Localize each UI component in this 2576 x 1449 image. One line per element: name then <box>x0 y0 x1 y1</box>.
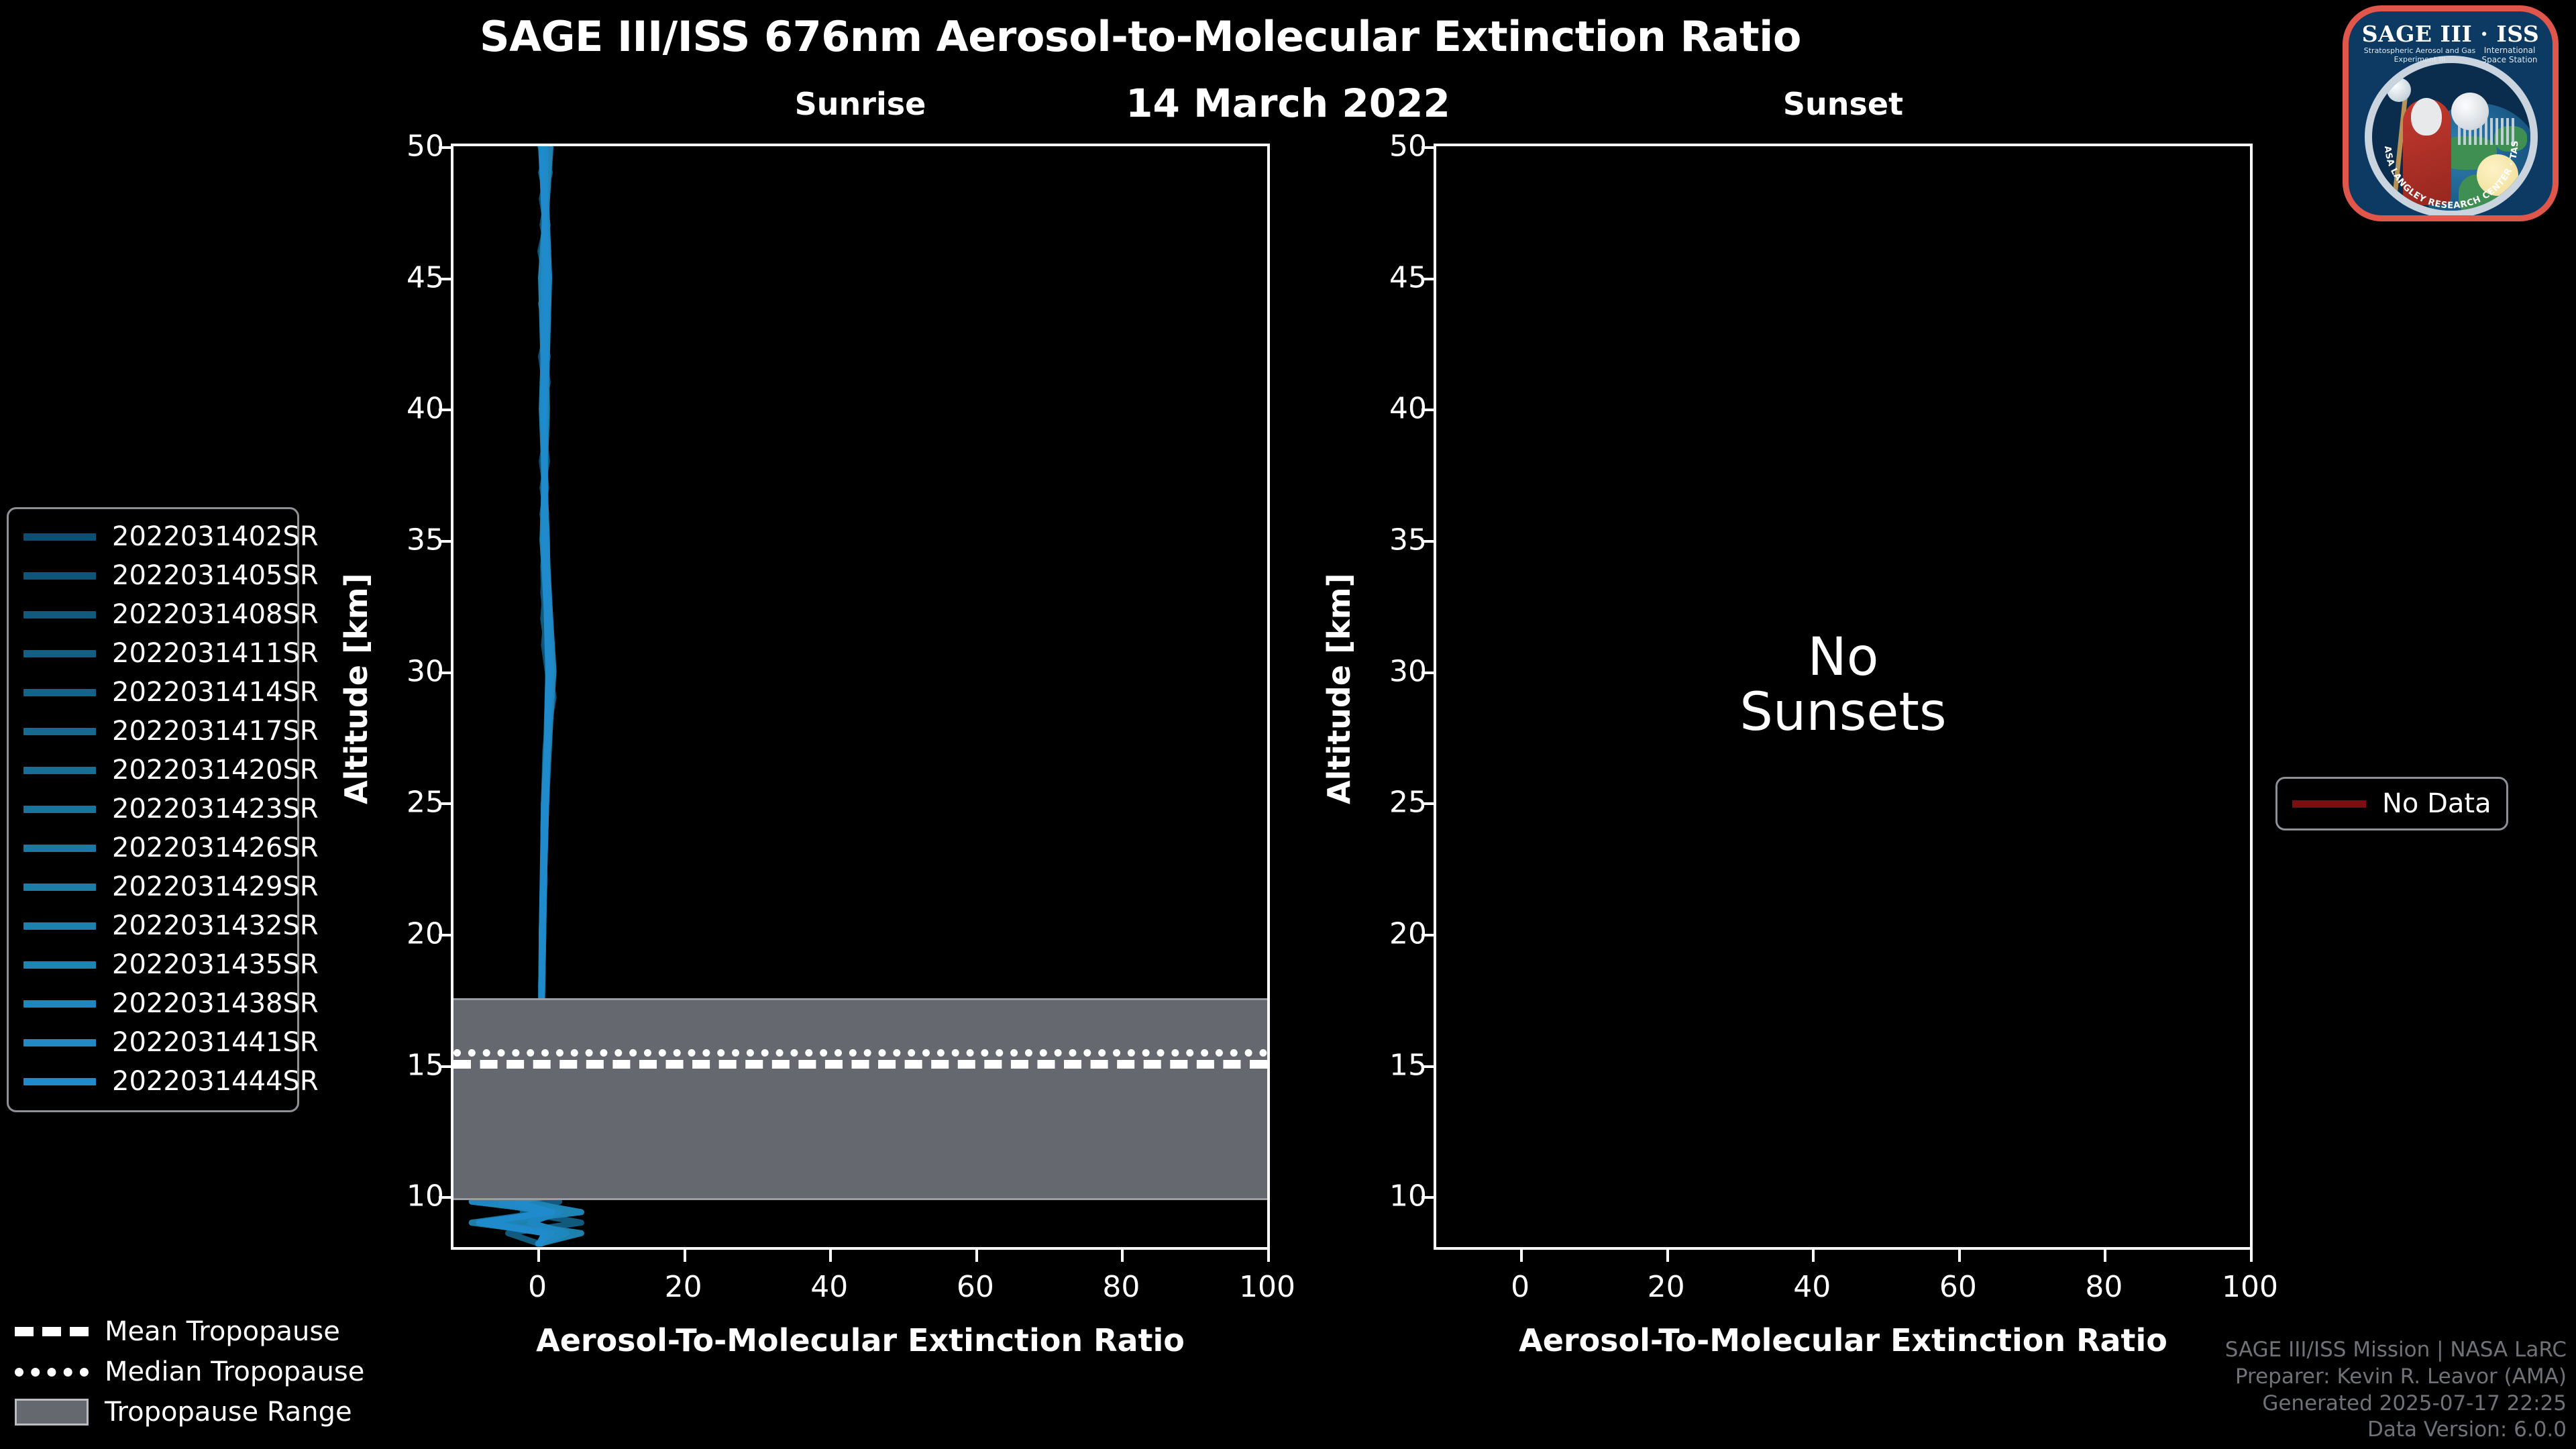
credit-data-version: Data Version: 6.0.0 <box>2225 1417 2567 1444</box>
tropopause-range-label: Tropopause Range <box>105 1397 352 1428</box>
legend-item-label: 2022031426SR <box>112 833 319 863</box>
x-axis-tick-label: 20 <box>1648 1270 1685 1304</box>
logo-subtitle-left: Stratospheric Aerosol and Gas Experiment… <box>2353 46 2487 64</box>
y-axis-tick-label: 30 <box>407 654 444 688</box>
credit-preparer: Preparer: Kevin R. Leavor (AMA) <box>2225 1364 2567 1391</box>
sunrise-plot-area <box>453 146 1267 1247</box>
no-data-line-icon <box>2292 800 2366 808</box>
legend-item-label: 2022031429SR <box>112 871 319 902</box>
sunrise-plot-panel: 101520253035404550 020406080100 Aerosol-… <box>451 144 1270 1250</box>
x-axis-tick-label: 60 <box>1939 1270 1977 1304</box>
y-axis-tick-label: 45 <box>1389 260 1427 294</box>
legend-item-2022031408sr[interactable]: 2022031408SR <box>9 595 297 634</box>
sage-iii-iss-mission-logo: BALL · NASA LANGLEY RESEARCH CENTER · TA… <box>2343 5 2559 221</box>
gray-box-icon <box>15 1399 89 1426</box>
x-axis-tick <box>1666 1247 1669 1262</box>
legend-item-label: 2022031417SR <box>112 716 319 747</box>
legend-item-2022031444sr[interactable]: 2022031444SR <box>9 1062 297 1101</box>
y-axis-tick-label: 15 <box>1389 1048 1427 1082</box>
legend-color-swatch <box>23 922 96 930</box>
sunrise-x-axis-title: Aerosol-To-Molecular Extinction Ratio <box>453 1322 1267 1358</box>
x-axis-tick-label: 100 <box>2222 1270 2278 1304</box>
legend-item-2022031417sr[interactable]: 2022031417SR <box>9 712 297 751</box>
legend-color-swatch <box>23 1078 96 1085</box>
legend-item-label: 2022031402SR <box>112 521 319 552</box>
y-axis-tick-label: 35 <box>1389 523 1427 557</box>
x-axis-tick <box>2250 1247 2253 1262</box>
no-sunsets-line2: Sunsets <box>1434 686 2253 741</box>
svg-text:BALL · NASA LANGLEY RESEARCH C: BALL · NASA LANGLEY RESEARCH CENTER · TA… <box>2372 63 2520 211</box>
logo-ring-text: BALL · NASA LANGLEY RESEARCH CENTER · TA… <box>2372 63 2530 211</box>
legend-color-swatch <box>23 728 96 735</box>
legend-color-swatch <box>23 572 96 580</box>
legend-color-swatch <box>23 611 96 619</box>
x-axis-tick <box>2104 1247 2106 1262</box>
legend-item-2022031414sr[interactable]: 2022031414SR <box>9 673 297 712</box>
legend-item-median-tropopause: Median Tropopause <box>15 1352 364 1392</box>
dashed-line-icon <box>15 1327 89 1336</box>
median-tropopause-label: Median Tropopause <box>105 1356 364 1387</box>
legend-item-2022031411sr[interactable]: 2022031411SR <box>9 634 297 673</box>
y-axis-tick-label: 50 <box>407 129 444 164</box>
y-axis-tick-label: 40 <box>1389 392 1427 426</box>
sunset-x-axis-title: Aerosol-To-Molecular Extinction Ratio <box>1436 1322 2250 1358</box>
y-axis-tick-label: 50 <box>1389 129 1427 164</box>
legend-item-2022031435sr[interactable]: 2022031435SR <box>9 945 297 984</box>
y-axis-tick-label: 20 <box>407 917 444 951</box>
legend-color-swatch <box>23 806 96 813</box>
legend-color-swatch <box>23 689 96 696</box>
x-axis-tick <box>1812 1247 1815 1262</box>
legend-item-label: 2022031423SR <box>112 794 319 824</box>
no-sunsets-line1: No <box>1434 631 2253 686</box>
no-data-label: No Data <box>2382 788 2491 819</box>
y-axis-tick-label: 10 <box>1389 1179 1427 1214</box>
sunrise-y-axis-title: Altitude [km] <box>338 573 374 804</box>
x-axis-tick <box>829 1247 832 1262</box>
mean-tropopause-line <box>453 1060 1267 1069</box>
legend-item-2022031402sr[interactable]: 2022031402SR <box>9 517 297 556</box>
legend-item-label: 2022031441SR <box>112 1027 319 1058</box>
legend-color-swatch <box>23 1000 96 1008</box>
x-axis-tick-label: 60 <box>957 1270 994 1304</box>
tropopause-legend: Mean Tropopause Median Tropopause Tropop… <box>15 1311 364 1432</box>
credits-block: SAGE III/ISS Mission | NASA LaRC Prepare… <box>2225 1337 2567 1444</box>
sunset-panel-title: Sunset <box>1434 86 2253 122</box>
tropopause-range-band <box>453 998 1267 1200</box>
median-tropopause-line <box>453 1049 1267 1057</box>
legend-item-tropopause-range: Tropopause Range <box>15 1392 364 1432</box>
legend-color-swatch <box>23 883 96 891</box>
legend-item-2022031405sr[interactable]: 2022031405SR <box>9 556 297 595</box>
x-axis-tick <box>975 1247 978 1262</box>
legend-item-2022031429sr[interactable]: 2022031429SR <box>9 867 297 906</box>
legend-item-label: 2022031420SR <box>112 755 319 786</box>
x-axis-tick-label: 20 <box>665 1270 702 1304</box>
y-axis-tick-label: 40 <box>407 392 444 426</box>
series-legend[interactable]: 2022031402SR2022031405SR2022031408SR2022… <box>7 507 299 1112</box>
mean-tropopause-label: Mean Tropopause <box>105 1316 340 1347</box>
legend-color-swatch <box>23 845 96 852</box>
page-title: SAGE III/ISS 676nm Aerosol-to-Molecular … <box>0 12 2281 61</box>
legend-color-swatch <box>23 650 96 657</box>
y-axis-tick-label: 25 <box>1389 786 1427 820</box>
legend-item-2022031432sr[interactable]: 2022031432SR <box>9 906 297 945</box>
y-axis-tick-label: 45 <box>407 260 444 294</box>
x-axis-tick-label: 0 <box>1511 1270 1529 1304</box>
legend-item-2022031423sr[interactable]: 2022031423SR <box>9 790 297 828</box>
x-axis-tick <box>684 1247 686 1262</box>
legend-item-label: 2022031432SR <box>112 910 319 941</box>
legend-item-2022031420sr[interactable]: 2022031420SR <box>9 751 297 790</box>
x-axis-tick <box>537 1247 540 1262</box>
y-axis-tick-label: 10 <box>407 1179 444 1214</box>
sunset-y-axis-title: Altitude [km] <box>1321 573 1357 804</box>
logo-ring: BALL · NASA LANGLEY RESEARCH CENTER · TA… <box>2365 56 2538 218</box>
x-axis-tick <box>1958 1247 1961 1262</box>
legend-item-label: 2022031414SR <box>112 677 319 708</box>
no-sunsets-message: No Sunsets <box>1434 631 2253 741</box>
x-axis-tick-label: 40 <box>1793 1270 1831 1304</box>
logo-subtitle-right: International Space Station <box>2473 46 2546 65</box>
no-data-legend[interactable]: No Data <box>2275 777 2508 830</box>
legend-color-swatch <box>23 1039 96 1046</box>
credit-mission: SAGE III/ISS Mission | NASA LaRC <box>2225 1337 2567 1364</box>
credit-generated: Generated 2025-07-17 22:25 <box>2225 1391 2567 1417</box>
legend-item-mean-tropopause: Mean Tropopause <box>15 1311 364 1352</box>
x-axis-tick-label: 0 <box>528 1270 547 1304</box>
x-axis-tick-label: 80 <box>1102 1270 1140 1304</box>
legend-color-swatch <box>23 533 96 541</box>
logo-title: SAGE III · ISS <box>2349 21 2553 47</box>
legend-item-2022031438sr[interactable]: 2022031438SR <box>9 984 297 1023</box>
y-axis-tick-label: 20 <box>1389 917 1427 951</box>
x-axis-tick <box>1520 1247 1523 1262</box>
x-axis-tick-label: 100 <box>1239 1270 1295 1304</box>
x-axis-tick-label: 40 <box>810 1270 848 1304</box>
legend-item-2022031441sr[interactable]: 2022031441SR <box>9 1023 297 1062</box>
sunrise-panel-title: Sunrise <box>451 86 1270 122</box>
legend-item-label: 2022031438SR <box>112 988 319 1019</box>
legend-item-label: 2022031411SR <box>112 638 319 669</box>
x-axis-tick <box>1121 1247 1124 1262</box>
y-axis-tick-label: 25 <box>407 786 444 820</box>
legend-item-label: 2022031435SR <box>112 949 319 980</box>
x-axis-tick-label: 80 <box>2085 1270 2123 1304</box>
dotted-line-icon <box>15 1368 89 1377</box>
y-axis-tick-label: 35 <box>407 523 444 557</box>
legend-color-swatch <box>23 767 96 774</box>
legend-item-label: 2022031405SR <box>112 560 319 591</box>
legend-color-swatch <box>23 961 96 969</box>
legend-item-label: 2022031408SR <box>112 599 319 630</box>
y-axis-tick-label: 15 <box>407 1048 444 1082</box>
legend-item-2022031426sr[interactable]: 2022031426SR <box>9 828 297 867</box>
x-axis-tick <box>1267 1247 1270 1262</box>
legend-item-label: 2022031444SR <box>112 1066 319 1097</box>
y-axis-tick-label: 30 <box>1389 654 1427 688</box>
